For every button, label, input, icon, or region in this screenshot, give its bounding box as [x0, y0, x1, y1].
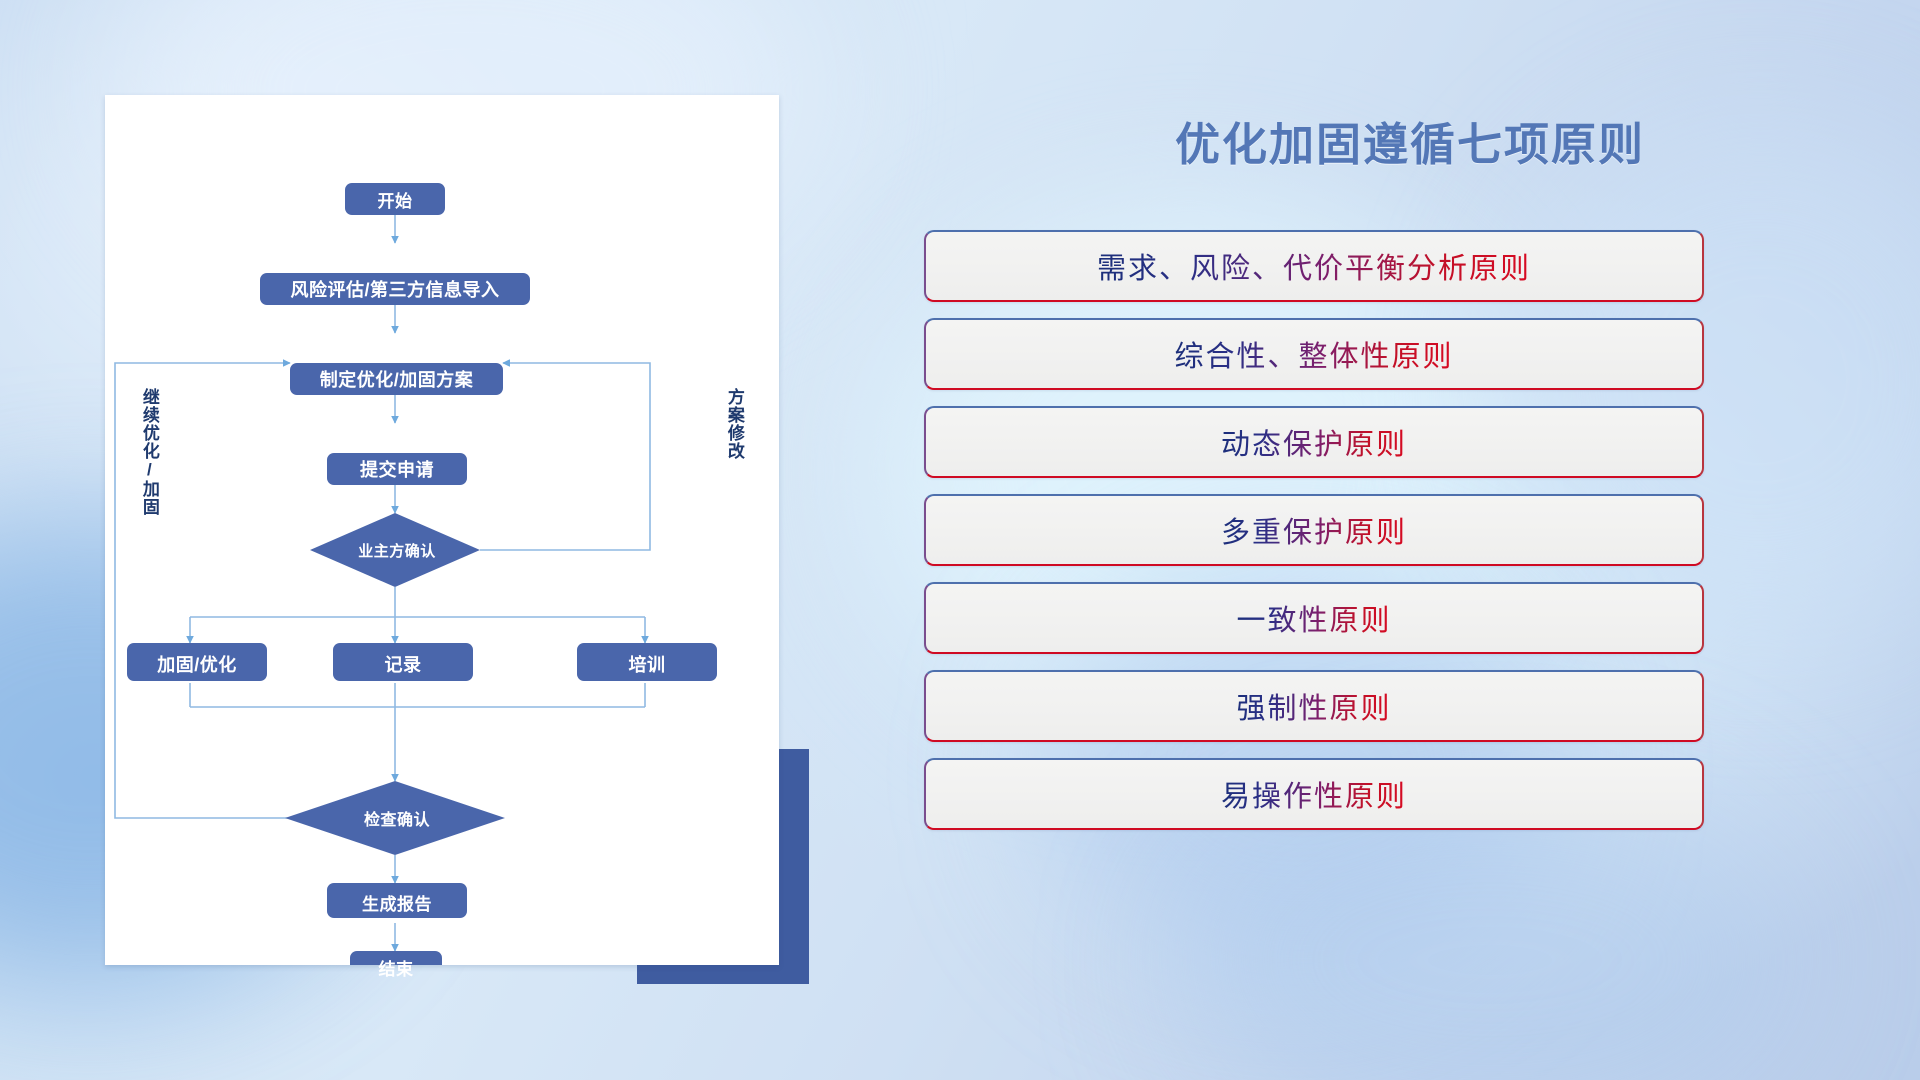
principle-item[interactable]: 需求、风险、代价平衡分析原则 [924, 230, 1704, 302]
flow-edge-label-left: 继续优化/加固 [140, 388, 158, 548]
slide-root: 开始 风险评估/第三方信息导入 制定优化/加固方案 提交申请 业主方确认 加固/… [0, 0, 1920, 1080]
principle-item[interactable]: 强制性原则 [924, 670, 1704, 742]
principle-item[interactable]: 多重保护原则 [924, 494, 1704, 566]
principle-label: 动态保护原则 [1221, 421, 1407, 463]
flowchart-panel: 开始 风险评估/第三方信息导入 制定优化/加固方案 提交申请 业主方确认 加固/… [0, 0, 900, 1080]
principle-label: 综合性、整体性原则 [1174, 333, 1453, 375]
principle-label: 一致性原则 [1236, 597, 1391, 639]
principles-list: 需求、风险、代价平衡分析原则 综合性、整体性原则 动态保护原则 多重保护原则 一… [924, 230, 1704, 846]
principle-item[interactable]: 易操作性原则 [924, 758, 1704, 830]
page-title: 优化加固遵循七项原则 [900, 108, 1920, 173]
flowchart-svg [105, 95, 779, 965]
principle-item[interactable]: 综合性、整体性原则 [924, 318, 1704, 390]
principle-label: 多重保护原则 [1221, 509, 1407, 551]
principle-label: 强制性原则 [1236, 685, 1391, 727]
principle-item[interactable]: 一致性原则 [924, 582, 1704, 654]
principle-label: 易操作性原则 [1221, 773, 1407, 815]
principle-item[interactable]: 动态保护原则 [924, 406, 1704, 478]
principle-label: 需求、风险、代价平衡分析原则 [1097, 245, 1531, 287]
flow-edge-label-right: 方案修改 [725, 388, 743, 498]
principles-panel: 优化加固遵循七项原则 需求、风险、代价平衡分析原则 综合性、整体性原则 动态保护… [900, 0, 1920, 1080]
